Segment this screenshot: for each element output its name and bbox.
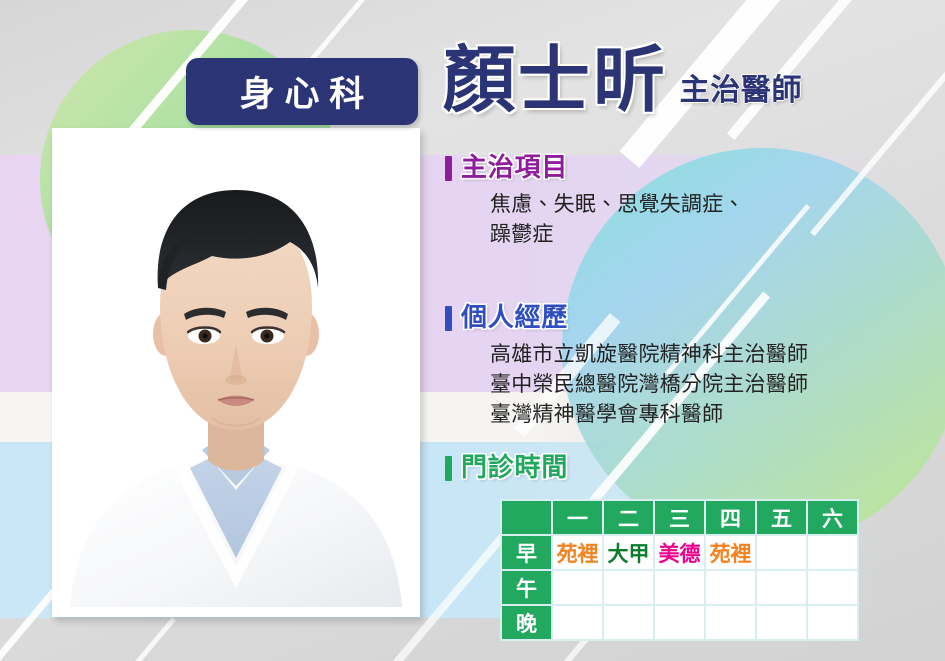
schedule-cell[interactable]	[808, 606, 857, 639]
experience-heading: 個人經歷	[461, 305, 568, 331]
schedule-cell[interactable]	[808, 536, 857, 569]
schedule-section: 門診時間	[445, 455, 568, 481]
table-row: 早 苑裡 大甲 美德 苑裡	[502, 536, 857, 569]
department-name: 身心科	[230, 66, 374, 117]
section-marker-bar-icon	[445, 306, 452, 331]
table-row: 午	[502, 571, 857, 604]
schedule-col-header: 五	[757, 501, 806, 534]
schedule-table-body: 早 苑裡 大甲 美德 苑裡 午 晚	[502, 536, 857, 639]
doctor-title: 主治醫師	[680, 65, 802, 117]
schedule-col-header: 三	[655, 501, 704, 534]
schedule-cell[interactable]	[604, 606, 653, 639]
doctor-photo	[62, 138, 410, 607]
specialty-body: 焦慮、失眠、思覺失調症、 躁鬱症	[490, 190, 745, 250]
schedule-cell[interactable]: 苑裡	[706, 536, 755, 569]
section-marker-bar-icon	[445, 456, 452, 481]
experience-section: 個人經歷 高雄市立凱旋醫院精神科主治醫師 臺中榮民總醫院灣橋分院主治醫師 臺灣精…	[445, 305, 808, 429]
schedule-cell[interactable]	[757, 536, 806, 569]
experience-line: 高雄市立凱旋醫院精神科主治醫師	[490, 340, 808, 370]
specialty-line: 躁鬱症	[490, 220, 745, 250]
experience-heading-row: 個人經歷	[445, 305, 808, 331]
schedule-cell[interactable]: 美德	[655, 536, 704, 569]
schedule-cell[interactable]	[655, 571, 704, 604]
experience-line: 臺中榮民總醫院灣橋分院主治醫師	[490, 370, 808, 400]
schedule-heading-row: 門診時間	[445, 455, 568, 481]
schedule-corner-cell	[502, 501, 551, 534]
schedule-cell[interactable]	[757, 606, 806, 639]
schedule-col-header: 一	[553, 501, 602, 534]
schedule-cell[interactable]	[808, 571, 857, 604]
schedule-heading: 門診時間	[461, 455, 568, 481]
specialty-heading-row: 主治項目	[445, 155, 745, 181]
schedule-cell[interactable]	[655, 606, 704, 639]
schedule-header-row: 一 二 三 四 五 六	[502, 501, 857, 534]
schedule-cell[interactable]	[553, 606, 602, 639]
table-row: 晚	[502, 606, 857, 639]
specialty-line: 焦慮、失眠、思覺失調症、	[490, 190, 745, 220]
portrait-illustration	[62, 138, 410, 607]
schedule-cell[interactable]	[553, 571, 602, 604]
schedule-col-header: 六	[808, 501, 857, 534]
specialty-heading: 主治項目	[461, 155, 568, 181]
schedule-row-label: 晚	[502, 606, 551, 639]
experience-line: 臺灣精神醫學會專科醫師	[490, 400, 808, 430]
experience-body: 高雄市立凱旋醫院精神科主治醫師 臺中榮民總醫院灣橋分院主治醫師 臺灣精神醫學會專…	[490, 340, 808, 429]
schedule-cell[interactable]	[757, 571, 806, 604]
doctor-profile-card: 身心科 顏士昕 主治醫師 主治項目 焦慮、失眠、思覺失調症、 躁鬱症 個人經歷 …	[0, 0, 945, 661]
schedule-cell[interactable]	[706, 606, 755, 639]
doctor-photo-frame	[52, 128, 420, 617]
schedule-col-header: 四	[706, 501, 755, 534]
schedule-cell[interactable]	[706, 571, 755, 604]
schedule-cell[interactable]: 大甲	[604, 536, 653, 569]
section-marker-bar-icon	[445, 156, 452, 181]
schedule-col-header: 二	[604, 501, 653, 534]
specialty-section: 主治項目 焦慮、失眠、思覺失調症、 躁鬱症	[445, 155, 745, 250]
schedule-row-label: 午	[502, 571, 551, 604]
schedule-cell[interactable]	[604, 571, 653, 604]
schedule-table-head: 一 二 三 四 五 六	[502, 501, 857, 534]
doctor-name: 顏士昕	[443, 45, 668, 117]
diagonal-stripe	[69, 617, 176, 661]
clinic-schedule-table: 一 二 三 四 五 六 早 苑裡 大甲 美德 苑裡 午	[500, 499, 859, 641]
schedule-row-label: 早	[502, 536, 551, 569]
department-badge: 身心科	[186, 58, 418, 125]
schedule-cell[interactable]: 苑裡	[553, 536, 602, 569]
doctor-name-row: 顏士昕 主治醫師	[443, 45, 802, 117]
